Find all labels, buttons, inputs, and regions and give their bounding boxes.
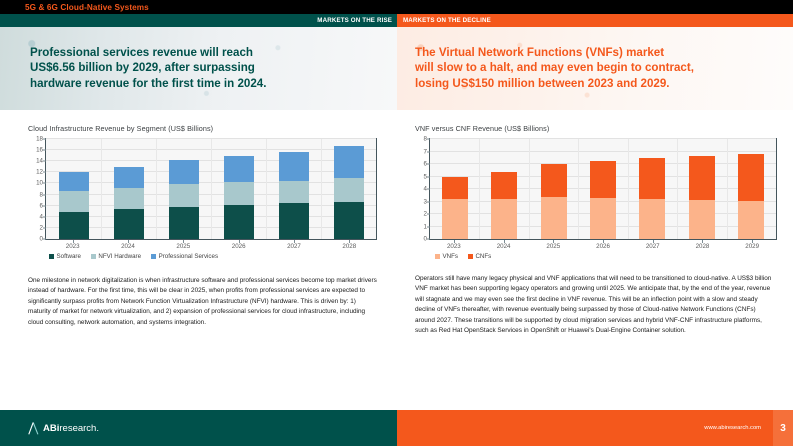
tab-markets-on-the-decline-label: MARKETS ON THE DECLINE [397,17,491,24]
legend-label: Software [57,253,81,260]
bar-segment [114,167,144,188]
x-axis-tick-label: 2027 [646,243,660,250]
bar-segment [224,205,254,239]
legend-label: Professional Services [159,253,219,260]
bar-group [529,139,578,239]
plot-area: 012345678 [429,138,777,240]
column-markets-on-the-rise: Cloud Infrastructure Revenue by Segment … [0,110,397,410]
stacked-bar [169,160,199,239]
bar-segment [279,203,309,239]
bar-segment [442,177,468,200]
stacked-bar [442,177,468,240]
y-axis-tick [427,226,430,227]
footer-website-url[interactable]: www.abiresearch.com [704,425,761,431]
bar-group [578,139,627,239]
x-axis: 202320242025202620272028 [45,240,377,252]
bar-segment [279,152,309,181]
cloud-infrastructure-revenue-chart: 024681012141618202320242025202620272028S… [28,138,377,260]
chart-legend: SoftwareNFVI HardwareProfessional Servic… [45,253,377,260]
bar-group [101,139,156,239]
y-axis-tick [427,176,430,177]
y-axis-tick [43,150,46,151]
logo-light-text: research. [59,423,99,434]
bar-segment [114,209,144,239]
y-axis-tick-label: 18 [36,136,43,143]
tab-markets-on-the-decline[interactable]: MARKETS ON THE DECLINE [397,14,793,27]
y-axis-tick [427,139,430,140]
footer-left: ABiresearch. [0,410,397,446]
tab-strip: MARKETS ON THE RISE MARKETS ON THE DECLI… [0,14,793,27]
bar-segment [59,212,89,240]
bar-segment [224,156,254,183]
y-axis-tick [427,151,430,152]
y-axis-tick [427,164,430,165]
bar-group [321,139,376,239]
bar-segment [738,201,764,239]
legend-item[interactable]: Professional Services [151,253,218,260]
bar-segment [541,164,567,197]
bar-group [479,139,528,239]
legend-label: CNFs [475,253,491,260]
y-axis-tick-label: 14 [36,158,43,165]
hero-headline-rise: Professional services revenue will reach… [30,45,266,91]
hero-panel-rise: Professional services revenue will reach… [0,27,397,110]
chart-title-cloud-infrastructure: Cloud Infrastructure Revenue by Segment … [28,124,377,133]
legend-swatch [91,254,96,259]
bar-segment [491,199,517,239]
y-axis-tick [43,172,46,173]
y-axis-tick [427,201,430,202]
chart-title-vnf-versus-cnf: VNF versus CNF Revenue (US$ Billions) [415,124,777,133]
vnf-versus-cnf-revenue-chart: 0123456782023202420252026202720282029VNF… [415,138,777,260]
y-axis-tick [43,139,46,140]
bar-segment [334,202,364,240]
abi-lambda-icon [28,422,39,435]
hero-panel-decline: The Virtual Network Functions (VNFs) mar… [397,27,793,110]
bar-segment [442,199,468,239]
footer: ABiresearch. www.abiresearch.com 3 [0,410,793,446]
bar-segment [639,199,665,239]
hero-band: Professional services revenue will reach… [0,27,793,110]
bar-segment [59,172,89,191]
bar-segment [114,188,144,209]
bar-group [628,139,677,239]
y-axis-tick [43,161,46,162]
bar-segment [590,198,616,239]
x-axis-tick-label: 2023 [447,243,461,250]
document-title: 5G & 6G Cloud-Native Systems [25,3,149,12]
bar-group [46,139,101,239]
chart-legend: VNFsCNFs [429,253,777,260]
stacked-bar [224,156,254,239]
y-axis: 024681012141618 [30,139,46,239]
body-text-rise: One milestone in network digitalization … [28,276,377,328]
footer-right: www.abiresearch.com 3 [397,410,793,446]
plot-area: 024681012141618 [45,138,377,240]
bar-segment [334,146,364,178]
stacked-bar [334,146,364,239]
x-axis-tick-label: 2026 [232,243,246,250]
stacked-bar [59,172,89,239]
page-number: 3 [773,410,793,446]
y-axis-tick-label: 10 [36,180,43,187]
stacked-bar [279,152,309,239]
bar-group [727,139,776,239]
stacked-bar [114,167,144,239]
x-axis-tick-label: 2025 [176,243,190,250]
legend-item[interactable]: NFVI Hardware [91,253,141,260]
legend-label: VNFs [443,253,458,260]
legend-item[interactable]: Software [49,253,81,260]
y-axis-tick [43,216,46,217]
y-axis-tick [43,227,46,228]
x-axis-tick-label: 2024 [121,243,135,250]
bar-group [266,139,321,239]
x-axis-tick-label: 2025 [546,243,560,250]
y-axis-tick [427,189,430,190]
x-axis-tick-label: 2023 [66,243,80,250]
bar-segment [169,207,199,240]
y-axis-tick [43,194,46,195]
bar-group [211,139,266,239]
body-text-decline: Operators still have many legacy physica… [415,274,777,336]
column-markets-on-the-decline: VNF versus CNF Revenue (US$ Billions) 01… [397,110,793,410]
x-axis-tick-label: 2027 [287,243,301,250]
bar-segment [169,160,199,184]
x-axis-tick-label: 2026 [596,243,610,250]
bar-segment [590,161,616,198]
y-axis-tick-label: 12 [36,169,43,176]
tab-markets-on-the-rise-label: MARKETS ON THE RISE [317,17,397,24]
bar-segment [541,197,567,239]
stacked-bar [639,158,665,239]
bar-segment [689,156,715,200]
stacked-bar [590,161,616,239]
stacked-bar [689,156,715,239]
legend-item[interactable]: VNFs [435,253,458,260]
bar-segment [59,191,89,211]
legend-label: NFVI Hardware [98,253,141,260]
y-axis-tick [43,205,46,206]
legend-swatch [151,254,156,259]
hero-headline-decline: The Virtual Network Functions (VNFs) mar… [415,45,694,91]
x-axis-tick-label: 2028 [696,243,710,250]
bar-segment [639,158,665,200]
stacked-bar [541,164,567,239]
y-axis-tick-label: 16 [36,147,43,154]
legend-swatch [435,254,440,259]
bar-segment [334,178,364,202]
x-axis-tick-label: 2028 [342,243,356,250]
x-axis: 2023202420252026202720282029 [429,240,777,252]
tab-markets-on-the-rise[interactable]: MARKETS ON THE RISE [0,14,397,27]
bar-group [677,139,726,239]
bar-segment [738,154,764,201]
stacked-bar [491,172,517,240]
stacked-bar [738,154,764,239]
abi-research-logo: ABiresearch. [28,422,99,435]
bar-segment [491,172,517,199]
content-area: Cloud Infrastructure Revenue by Segment … [0,110,793,410]
legend-item[interactable]: CNFs [468,253,491,260]
bar-segment [169,184,199,207]
y-axis: 012345678 [414,139,430,239]
legend-swatch [49,254,54,259]
x-axis-tick-label: 2029 [745,243,759,250]
abi-research-wordmark: ABiresearch. [43,423,99,434]
bar-group [156,139,211,239]
bar-group [430,139,479,239]
y-axis-tick [43,183,46,184]
legend-swatch [468,254,473,259]
top-bar: 5G & 6G Cloud-Native Systems [0,0,793,14]
logo-bold-text: ABi [43,423,59,434]
bar-segment [224,182,254,205]
bar-segment [279,181,309,204]
y-axis-tick [427,214,430,215]
bar-segment [689,200,715,239]
x-axis-tick-label: 2024 [497,243,511,250]
